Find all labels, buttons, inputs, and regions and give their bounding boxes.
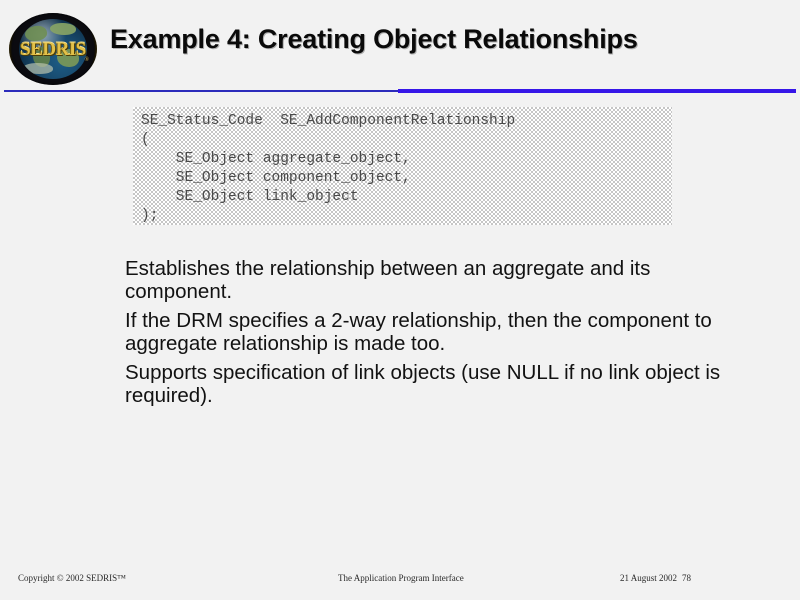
- slide-header: SEDRIS ® Example 4: Creating Object Rela…: [0, 0, 800, 92]
- globe-landmass: [50, 23, 76, 35]
- footer-document-title: The Application Program Interface: [338, 573, 464, 583]
- footer-copyright: Copyright © 2002 SEDRIS™: [18, 573, 126, 583]
- bullet-list: Establishes the relationship between an …: [125, 258, 725, 414]
- code-block: SE_Status_Code SE_AddComponentRelationsh…: [133, 107, 672, 225]
- header-divider-right: [398, 89, 796, 93]
- footer-date-and-page: 21 August 200278: [620, 573, 691, 583]
- slide-footer: Copyright © 2002 SEDRIS™ The Application…: [0, 570, 800, 590]
- bullet-item: Establishes the relationship between an …: [125, 258, 725, 303]
- slide-canvas: SEDRIS ® Example 4: Creating Object Rela…: [0, 0, 800, 600]
- header-divider-left: [4, 90, 398, 92]
- footer-page-number: 78: [682, 573, 691, 583]
- globe-landmass: [23, 63, 53, 74]
- logo-trademark-symbol: ®: [84, 57, 89, 63]
- code-signature-text: SE_Status_Code SE_AddComponentRelationsh…: [133, 107, 672, 226]
- footer-date: 21 August 2002: [620, 573, 677, 583]
- sedris-logo: SEDRIS ®: [9, 13, 97, 85]
- bullet-item: Supports specification of link objects (…: [125, 362, 725, 407]
- page-title: Example 4: Creating Object Relationships: [110, 24, 790, 55]
- bullet-item: If the DRM specifies a 2-way relationshi…: [125, 310, 725, 355]
